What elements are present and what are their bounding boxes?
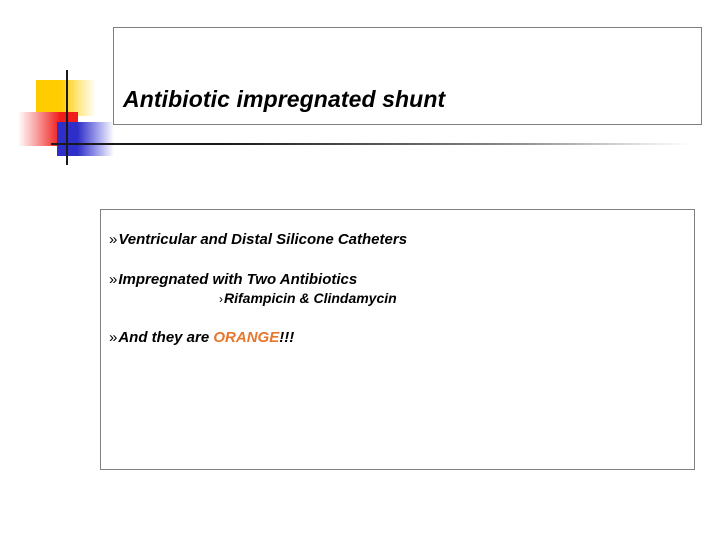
list-item: »Ventricular and Distal Silicone Cathete… [109, 232, 684, 247]
logo-yellow-square [36, 80, 96, 116]
list-item: »Impregnated with Two Antibiotics [109, 272, 684, 287]
list-item-label-suffix: !!! [279, 329, 294, 346]
list-item-label-prefix: And they are [118, 329, 213, 346]
bullet-marker-icon: » [109, 272, 117, 287]
bullet-marker-icon: » [109, 232, 117, 247]
bullet-marker-icon: » [109, 330, 117, 345]
title-underline-rule [51, 143, 691, 145]
logo-red-square [18, 112, 78, 146]
list-item: »And they are ORANGE!!! [109, 330, 684, 345]
bullet-list: »Ventricular and Distal Silicone Cathete… [109, 232, 684, 370]
page-title: Antibiotic impregnated shunt [123, 86, 445, 113]
slide-canvas: Antibiotic impregnated shunt »Ventricula… [0, 0, 720, 540]
sub-bullet-marker-icon: › [219, 293, 223, 305]
logo-vertical-rule [66, 70, 68, 165]
sub-list-item-label: Rifampicin & Clindamycin [224, 290, 397, 306]
list-item-label: Ventricular and Distal Silicone Catheter… [118, 231, 407, 248]
orange-highlight-text: ORANGE [213, 329, 279, 346]
logo-blue-square [57, 122, 114, 156]
list-item-label: Impregnated with Two Antibiotics [118, 271, 357, 288]
sub-list-item: ›Rifampicin & Clindamycin [109, 291, 684, 305]
